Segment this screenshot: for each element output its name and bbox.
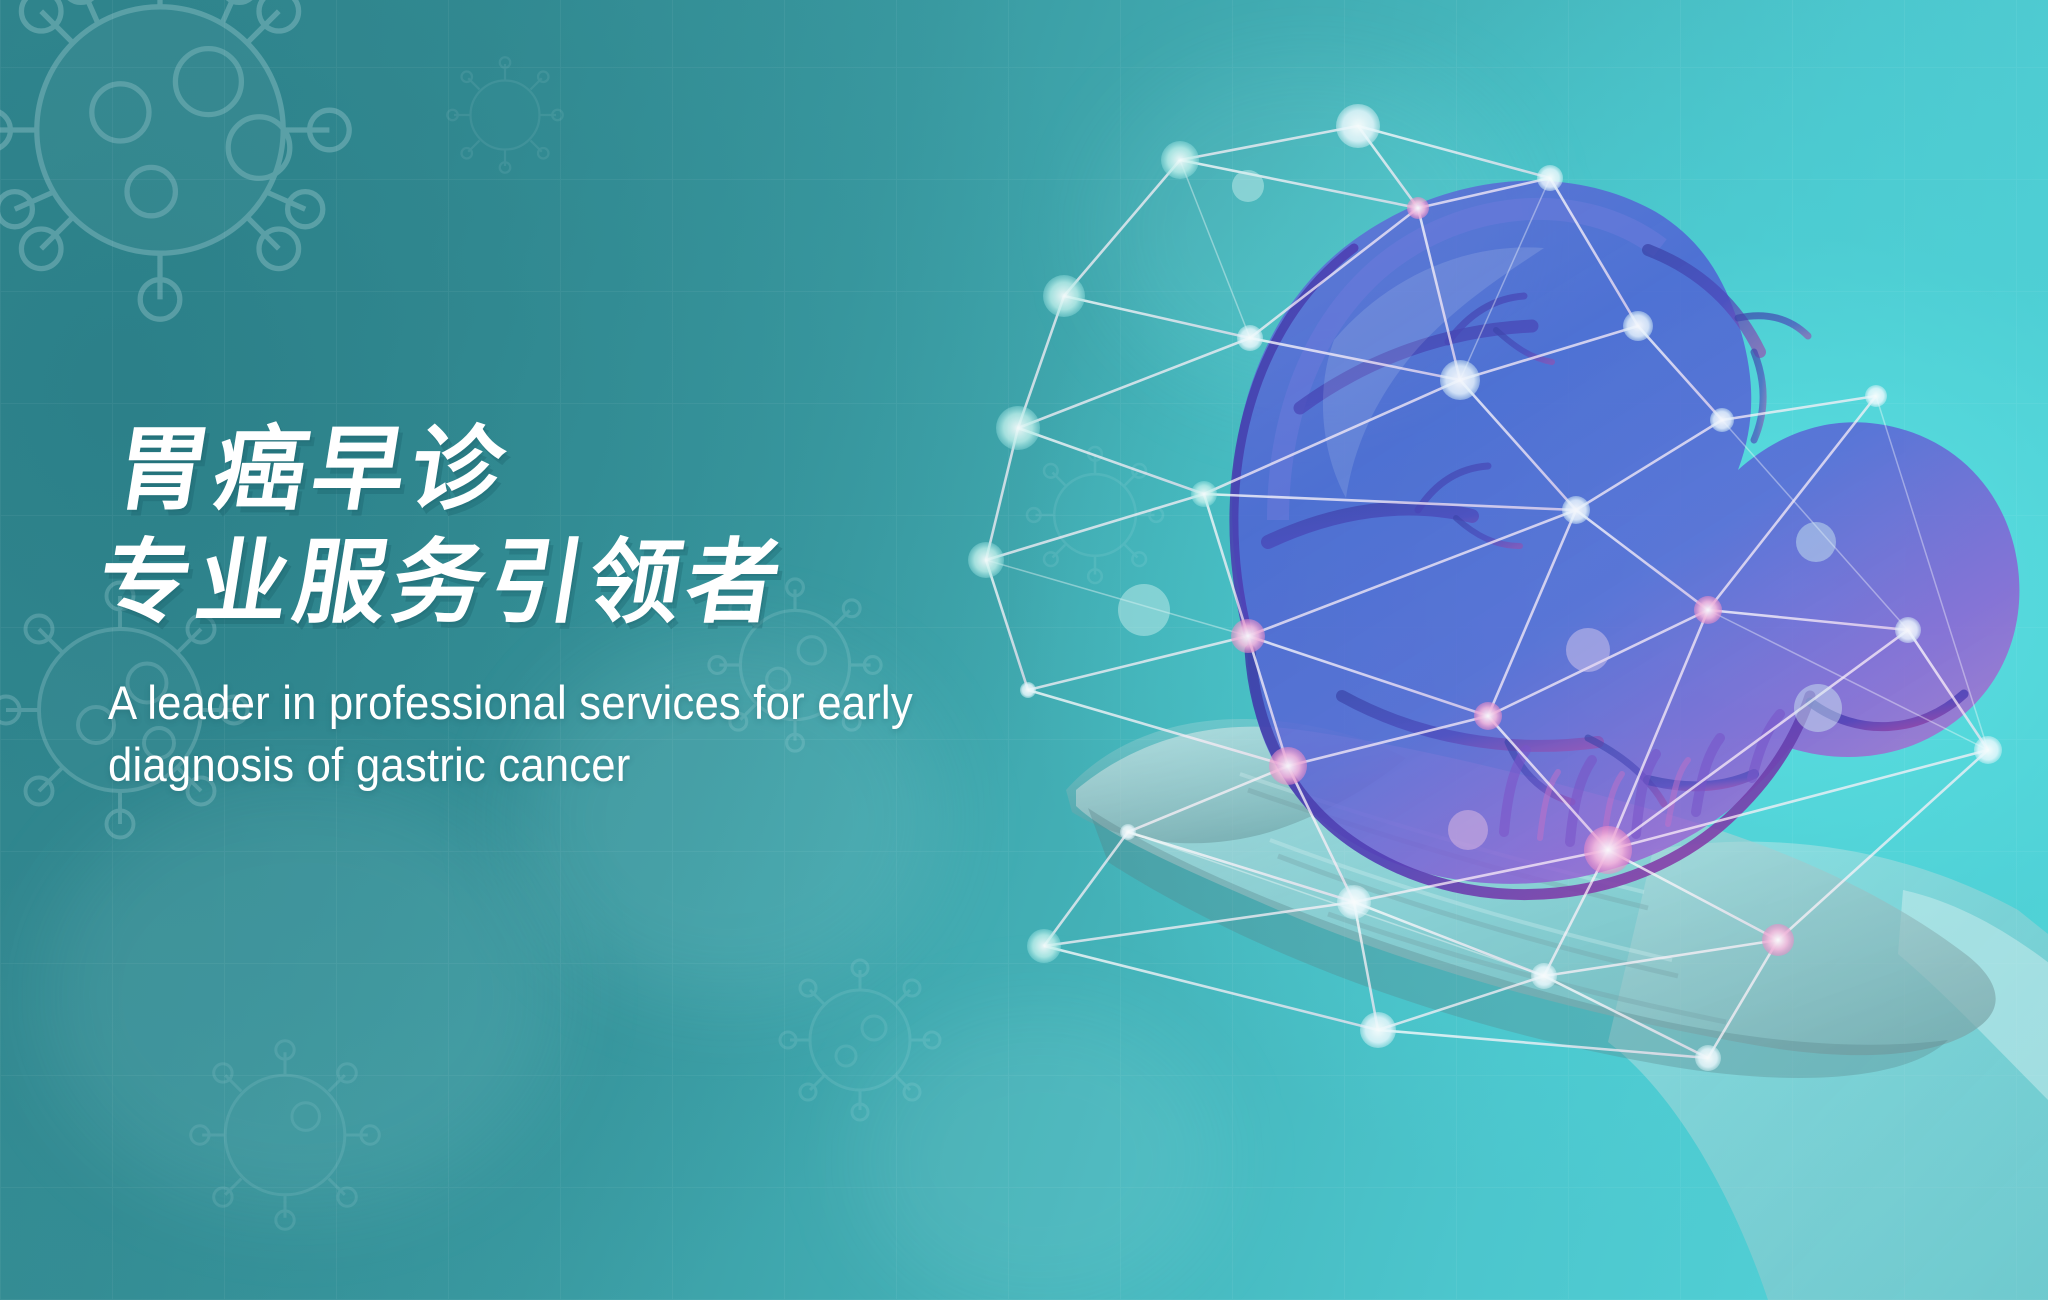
virus-watermark-icon xyxy=(170,1020,400,1250)
virus-watermark-icon xyxy=(760,940,960,1140)
headline-line-2: 专业服务引领者 xyxy=(91,531,1168,636)
headline-copy-block: 胃癌早诊 专业服务引领者 A leader in professional se… xyxy=(108,418,1168,796)
virus-watermark-icon xyxy=(430,40,580,190)
background-glow-blob xyxy=(40,780,560,1210)
hero-banner: 胃癌早诊 专业服务引领者 A leader in professional se… xyxy=(0,0,2048,1300)
subtitle-line-1: A leader in professional services for ea… xyxy=(108,672,1094,734)
page-title: 胃癌早诊 专业服务引领者 xyxy=(91,418,1185,636)
virus-watermark-icon xyxy=(0,0,380,340)
headline-line-1: 胃癌早诊 xyxy=(109,418,1186,523)
subtitle: A leader in professional services for ea… xyxy=(108,672,1094,796)
subtitle-line-2: diagnosis of gastric cancer xyxy=(108,734,1094,796)
